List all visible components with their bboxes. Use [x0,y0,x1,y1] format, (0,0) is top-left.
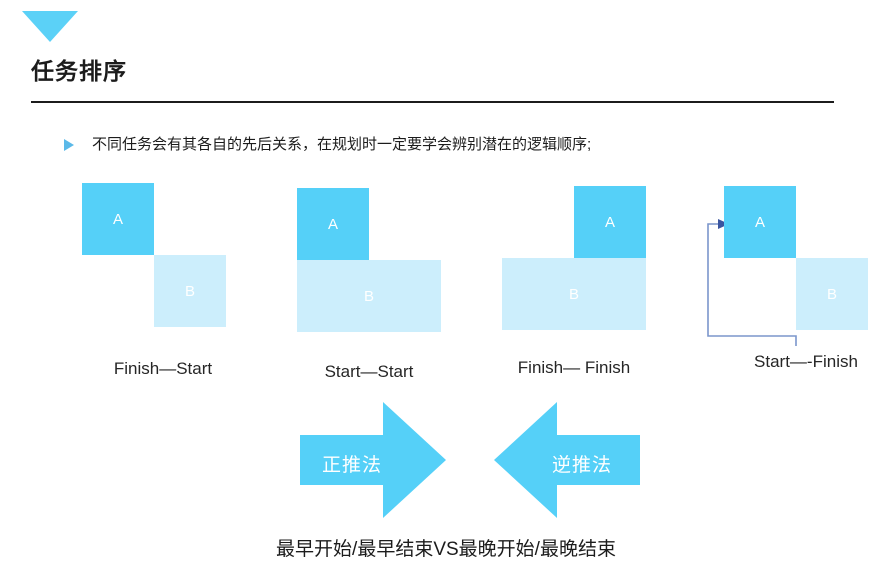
task-box-b-label: B [569,287,579,302]
page-title: 任务排序 [31,52,127,86]
bullet-row: 不同任务会有其各自的先后关系，在规划时一定要学会辨别潜在的逻辑顺序; [64,136,591,154]
task-box-a: A [574,186,646,258]
task-box-a: A [297,188,369,260]
task-box-b: B [796,258,868,330]
backward-pass-arrow-label: 逆推法 [552,450,612,477]
relationship-diagram-finish-finish: A B Finish— Finish [502,186,682,386]
task-box-a-label: A [755,215,765,230]
task-box-b-label: B [827,287,837,302]
relationship-label-finish-finish: Finish— Finish [444,358,704,378]
task-box-b: B [502,258,646,330]
relationship-diagram-start-finish: A B Start—-Finish [724,186,892,386]
bullet-text: 不同任务会有其各自的先后关系，在规划时一定要学会辨别潜在的逻辑顺序; [92,136,591,154]
triangle-down-icon [22,11,78,42]
task-box-b: B [297,260,441,332]
task-box-b-label: B [364,289,374,304]
slide-header: 任务排序 [0,0,892,108]
backward-pass-arrow: 逆推法 [494,402,640,518]
header-divider [31,101,834,103]
relationship-label-start-finish: Start—-Finish [676,352,892,372]
task-box-b: B [154,255,226,327]
forward-pass-arrow-label: 正推法 [322,450,382,477]
task-box-a: A [724,186,796,258]
task-box-a: A [82,183,154,255]
relationship-diagram-finish-start: A B Finish—Start [82,183,242,383]
task-box-a-label: A [605,215,615,230]
bottom-caption: 最早开始/最早结束VS最晚开始/最晚结束 [0,534,892,561]
task-box-b-label: B [185,284,195,299]
forward-pass-arrow: 正推法 [300,402,446,518]
triangle-right-bullet-icon [64,139,74,151]
task-box-a-label: A [113,212,123,227]
task-box-a-label: A [328,217,338,232]
